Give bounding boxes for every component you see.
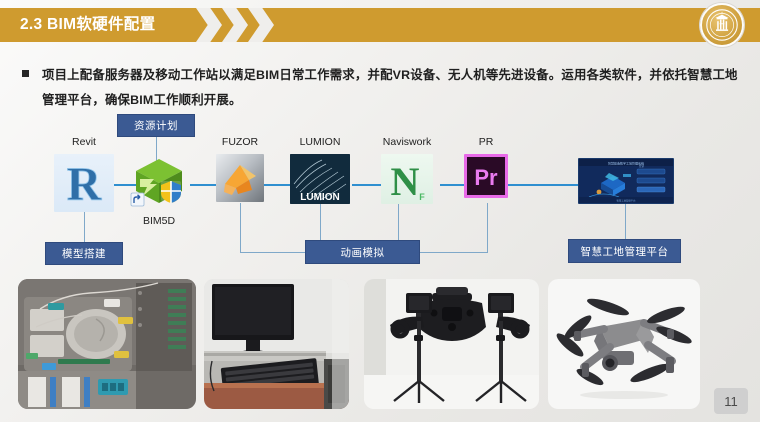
fuzor-orange-icon (216, 154, 264, 202)
svg-text:F: F (419, 192, 425, 202)
leader-fuzor-to-anim (240, 252, 305, 253)
svg-text:N: N (391, 159, 420, 204)
flow-node-revit[interactable]: Revit R R (48, 152, 120, 214)
flow-node-smart-platform[interactable]: 智慧建造数字工地管理系统 登录 智慧工地管理平台 (578, 158, 674, 204)
flow-node-lumion-label: LUMION (288, 136, 352, 148)
chip-model-build-label: 模型搭建 (62, 246, 106, 261)
leader-pr-to-anim (420, 252, 488, 253)
chip-animation-simulation-label: 动画模拟 (341, 245, 385, 260)
flow-node-bim5d[interactable]: BIM5D (128, 153, 190, 213)
server-rack-photo (18, 279, 196, 409)
flow-node-fuzor[interactable]: FUZOR (212, 152, 268, 214)
bim5d-green-cube-icon (128, 153, 190, 211)
flow-node-bim5d-label: BIM5D (128, 215, 190, 227)
chip-resource-plan-label: 资源计划 (134, 118, 178, 133)
page-number-badge: 11 (714, 388, 748, 414)
flow-node-lumion[interactable]: LUMION LUMION (288, 152, 352, 214)
smart-site-dashboard-screenshot: 智慧建造数字工地管理系统 登录 智慧工地管理平台 (578, 158, 674, 204)
flow-node-fuzor-label: FUZOR (212, 136, 268, 148)
slide-title-band: 2.3 BIM软硬件配置 (0, 8, 760, 42)
emblem-building-icon: ★ (705, 8, 739, 42)
svg-text:Pr: Pr (474, 165, 498, 190)
drone-photo (548, 279, 700, 409)
revit-r-icon: R R (54, 154, 114, 212)
svg-text:★: ★ (721, 11, 723, 14)
bullet-square-icon (22, 70, 29, 77)
chip-smart-platform-label: 智慧工地管理平台 (581, 244, 669, 259)
flow-node-pr-label: PR (462, 136, 510, 148)
flow-node-navisworks-label: Naviswork (375, 136, 439, 148)
chip-resource-plan[interactable]: 资源计划 (117, 114, 195, 137)
chip-model-build[interactable]: 模型搭建 (45, 242, 123, 265)
flow-node-navisworks[interactable]: Naviswork N F (375, 152, 439, 214)
lumion-wordmark: LUMION (300, 192, 339, 203)
equipment-photo-row (0, 277, 760, 412)
svg-text:登录: 登录 (639, 164, 645, 168)
body-paragraph: 项目上配备服务器及移动工作站以满足BIM日常工作需求，并配VR设备、无人机等先进… (42, 63, 738, 113)
software-flow-diagram: Revit R R BIM5D (0, 110, 760, 280)
premiere-pro-icon: Pr (464, 154, 508, 198)
chip-smart-platform[interactable]: 智慧工地管理平台 (568, 239, 681, 263)
lumion-dark-icon: LUMION (290, 154, 350, 204)
flow-node-revit-label: Revit (48, 136, 120, 148)
workstation-photo (204, 279, 349, 409)
connector-pr-platform (507, 184, 584, 186)
chip-animation-simulation[interactable]: 动画模拟 (305, 240, 420, 264)
vr-headset-photo (364, 279, 539, 409)
connector-navisworks-pr (440, 184, 464, 186)
svg-text:智慧工地管理平台: 智慧工地管理平台 (616, 198, 636, 202)
navisworks-n-icon: N F (381, 154, 433, 204)
page-title: 2.3 BIM软硬件配置 (20, 8, 155, 42)
flow-node-premiere-pro[interactable]: PR Pr (462, 154, 510, 212)
bullet-paragraph-block: 项目上配备服务器及移动工作站以满足BIM日常工作需求，并配VR设备、无人机等先进… (22, 63, 738, 113)
institute-logo: ★ (700, 3, 744, 47)
leader-platform-label (625, 203, 626, 240)
svg-text:R: R (67, 158, 103, 211)
